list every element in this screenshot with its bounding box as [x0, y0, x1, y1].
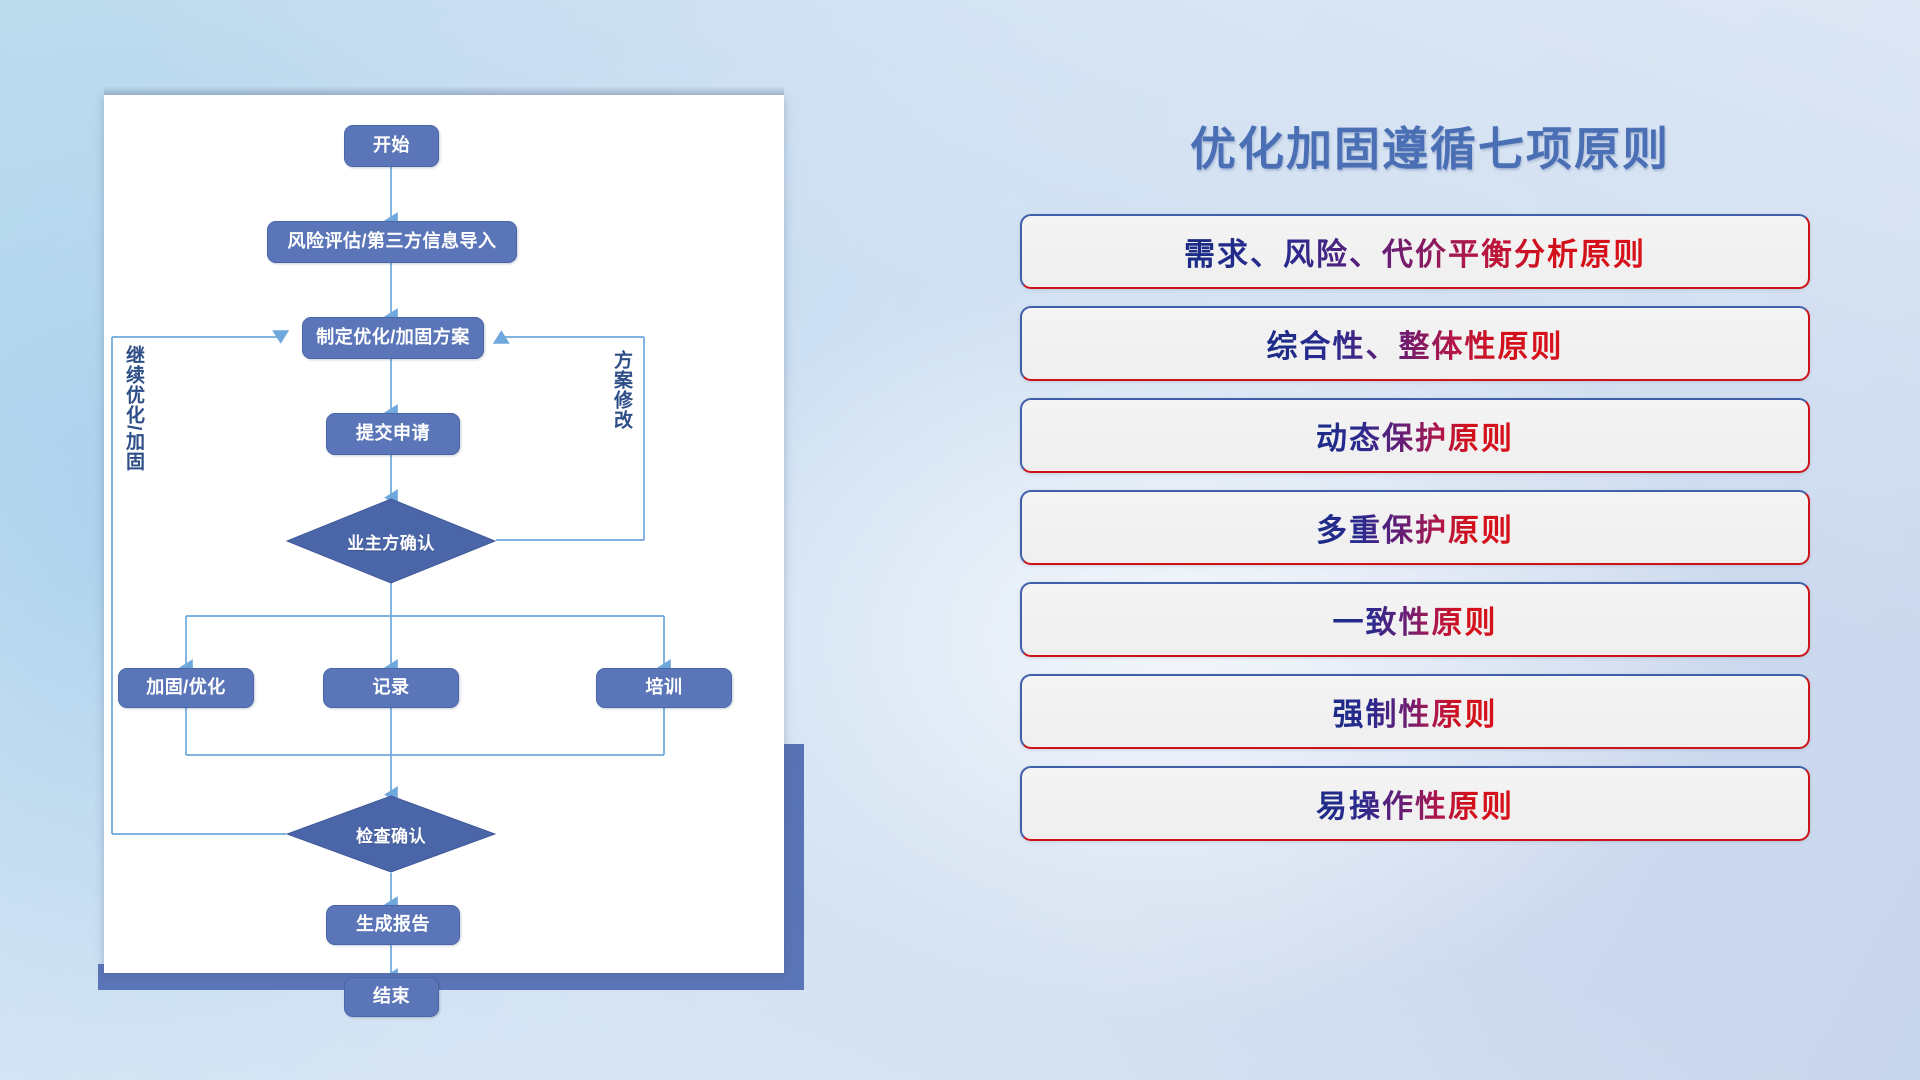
flow-node-training[interactable]: 培训: [596, 668, 732, 708]
principle-label: 强制性原则: [1333, 689, 1498, 734]
flow-node-reinforce[interactable]: 加固/优化: [118, 668, 254, 708]
flow-node-risk-assessment[interactable]: 风险评估/第三方信息导入: [267, 221, 517, 263]
flowchart: 开始 风险评估/第三方信息导入 制定优化/加固方案 提交申请 业主方确认 加固/…: [104, 95, 784, 973]
principle-item-7[interactable]: 易操作性原则: [1020, 766, 1810, 841]
edge-label-plan-revision: 方案修改: [612, 350, 631, 445]
flow-node-submit[interactable]: 提交申请: [326, 413, 460, 455]
principle-label: 一致性原则: [1333, 597, 1498, 642]
flow-node-label: 检查确认: [286, 795, 496, 873]
edge-label-continue-optimize: 继续优化/加固: [124, 345, 143, 480]
principle-label: 需求、风险、代价平衡分析原则: [1184, 229, 1646, 274]
flow-node-inspection[interactable]: 检查确认: [286, 795, 496, 873]
flow-node-start[interactable]: 开始: [344, 125, 439, 167]
flow-node-label: 风险评估/第三方信息导入: [288, 232, 497, 252]
flow-node-label: 培训: [646, 678, 683, 698]
flow-node-label: 生成报告: [356, 915, 430, 935]
principle-label: 动态保护原则: [1316, 413, 1514, 458]
principle-label: 多重保护原则: [1316, 505, 1514, 550]
principle-item-1[interactable]: 需求、风险、代价平衡分析原则: [1020, 214, 1810, 289]
principle-label: 综合性、整体性原则: [1267, 321, 1564, 366]
flow-node-label: 制定优化/加固方案: [316, 328, 470, 348]
flow-node-label: 加固/优化: [146, 678, 226, 698]
flow-node-label: 业主方确认: [286, 498, 496, 584]
panel-title: 优化加固遵循七项原则: [1020, 113, 1840, 179]
flow-node-label: 记录: [373, 678, 410, 698]
principle-item-4[interactable]: 多重保护原则: [1020, 490, 1810, 565]
card-top-shadow: [104, 87, 784, 95]
flow-node-record[interactable]: 记录: [323, 668, 459, 708]
principles-panel: 优化加固遵循七项原则 需求、风险、代价平衡分析原则 综合性、整体性原则 动态保护…: [1020, 95, 1840, 995]
flow-node-label: 开始: [373, 136, 410, 156]
principle-item-6[interactable]: 强制性原则: [1020, 674, 1810, 749]
flow-node-end[interactable]: 结束: [344, 977, 439, 1017]
principle-item-3[interactable]: 动态保护原则: [1020, 398, 1810, 473]
principle-label: 易操作性原则: [1316, 781, 1514, 826]
flow-node-report[interactable]: 生成报告: [326, 905, 460, 945]
principle-item-2[interactable]: 综合性、整体性原则: [1020, 306, 1810, 381]
flow-node-plan[interactable]: 制定优化/加固方案: [302, 317, 484, 359]
principle-item-5[interactable]: 一致性原则: [1020, 582, 1810, 657]
flow-node-owner-confirm[interactable]: 业主方确认: [286, 498, 496, 584]
flow-node-label: 结束: [373, 987, 410, 1007]
flow-node-label: 提交申请: [356, 424, 430, 444]
